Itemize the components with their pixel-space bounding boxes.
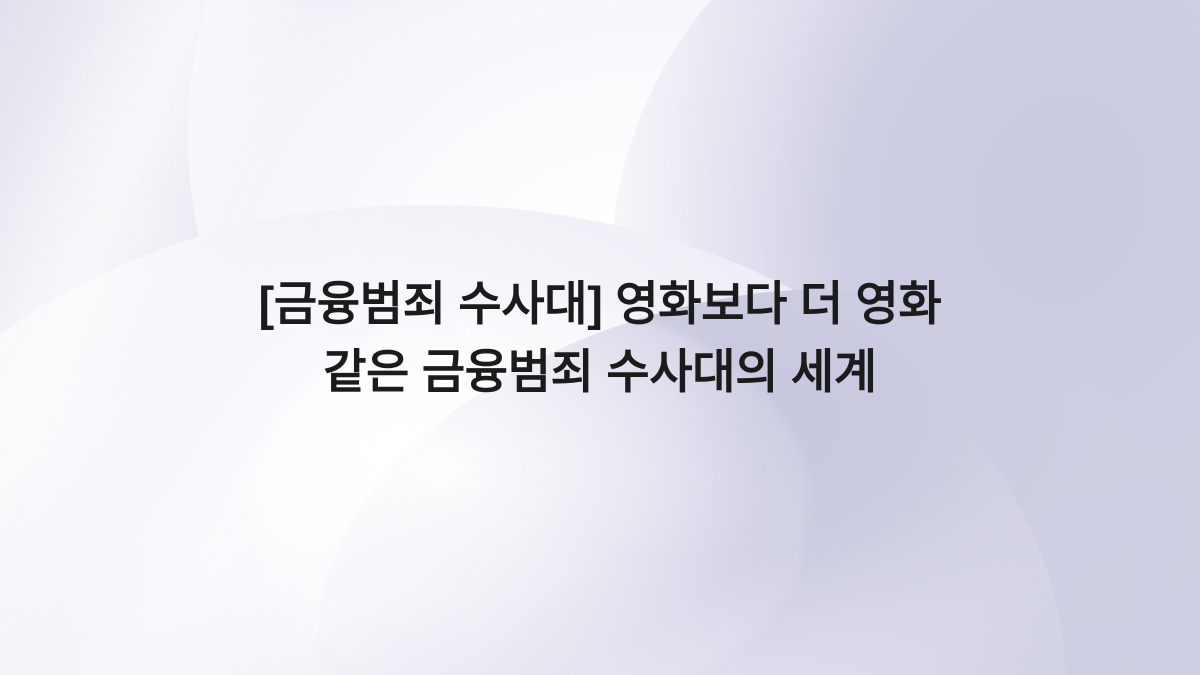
article-thumbnail-card: [금융범죄 수사대] 영화보다 더 영화 같은 금융범죄 수사대의 세계 bbox=[0, 0, 1200, 675]
headline-line-1: [금융범죄 수사대] 영화보다 더 영화 bbox=[259, 270, 942, 337]
headline-line-2: 같은 금융범죄 수사대의 세계 bbox=[323, 338, 877, 405]
headline-block: [금융범죄 수사대] 영화보다 더 영화 같은 금융범죄 수사대의 세계 bbox=[0, 0, 1200, 675]
